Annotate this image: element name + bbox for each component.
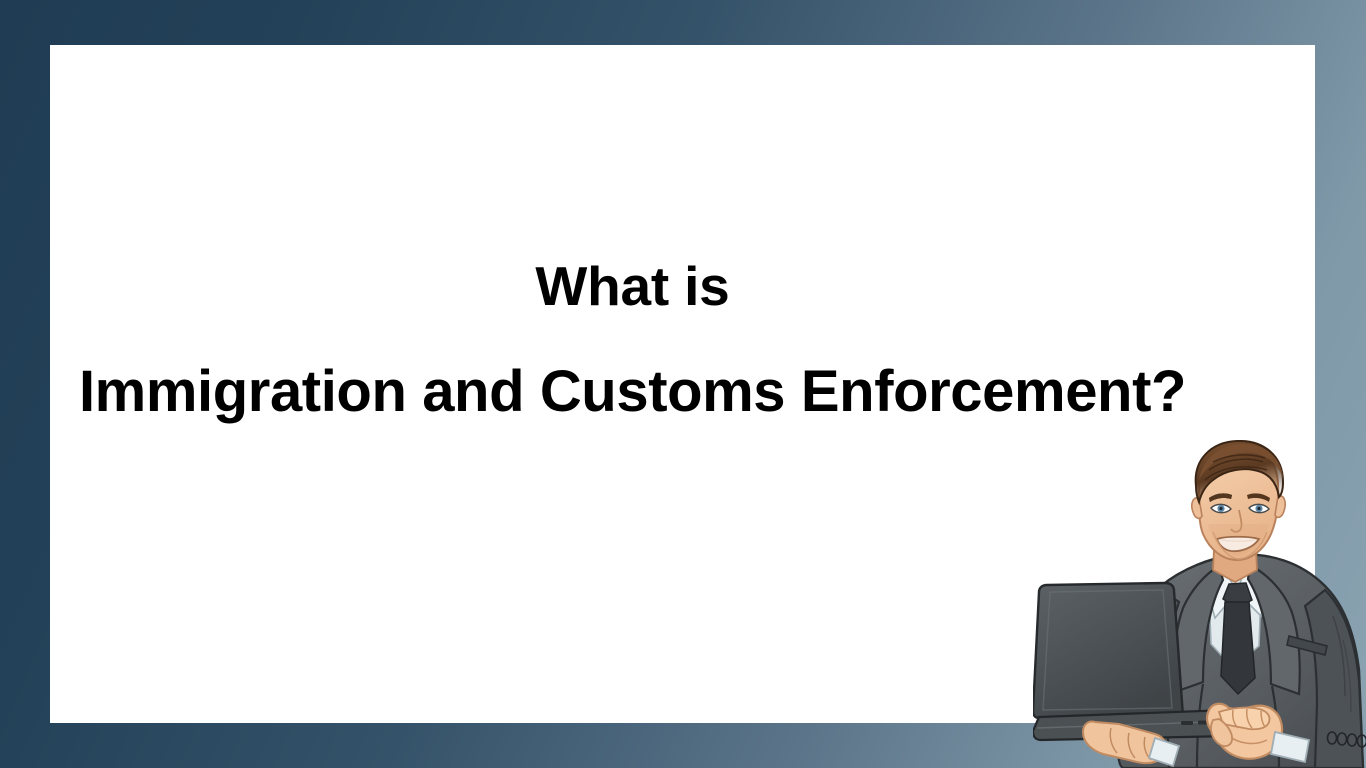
businessman-illustration — [1033, 440, 1366, 768]
title-block: What is Immigration and Customs Enforcem… — [0, 255, 1265, 424]
title-line-1: What is — [0, 255, 1265, 317]
slide-root: What is Immigration and Customs Enforcem… — [0, 0, 1366, 768]
title-line-2: Immigration and Customs Enforcement? — [0, 360, 1265, 424]
